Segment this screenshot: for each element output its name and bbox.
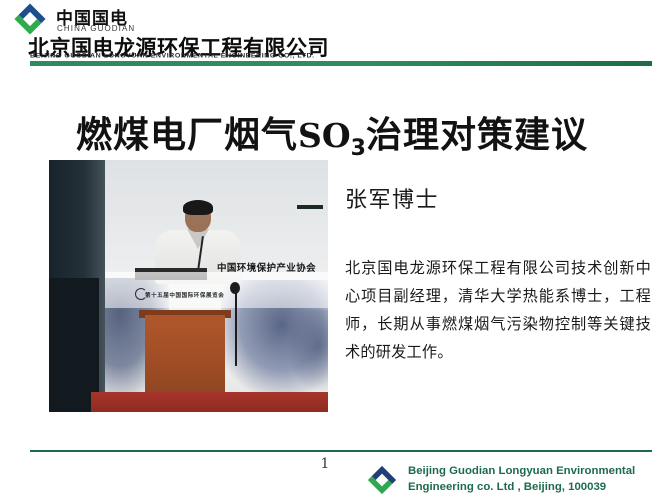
speaker-biography: 北京国电龙源环保工程有限公司技术创新中心项目副经理，清华大学热能系博士，工程师，… (345, 254, 651, 366)
photo-backdrop-text: 中国环境保护产业协会 (217, 260, 316, 274)
title-part1: 燃煤电厂烟气 (76, 115, 298, 156)
speaker-photo: 中国环境保护产业协会 第十五届中国国际环保展览会 (49, 160, 328, 412)
header-divider (30, 61, 652, 66)
speaker-name: 张军博士 (345, 182, 439, 214)
title-formula-so: SO (298, 116, 351, 155)
footer-divider (30, 450, 652, 452)
footer-line-2: Engineering co. Ltd , Beijing, 100039 (408, 480, 635, 496)
slide-header: 中国国电 CHINA GUODIAN 北京国电龙源环保工程有限公司 BEIJIN… (0, 0, 664, 68)
company-name-en: BEIJING GUODIAN LONGYUAN ENVIRONMENTAL E… (30, 53, 315, 59)
photo-red-carpet (91, 392, 328, 412)
title-part2: 治理对策建议 (366, 115, 588, 156)
guodian-diamond-logo-icon (363, 463, 401, 497)
photo-dark-dash (297, 205, 323, 209)
photo-podium (145, 315, 225, 401)
presentation-slide: 中国国电 CHINA GUODIAN 北京国电龙源环保工程有限公司 BEIJIN… (0, 0, 664, 502)
photo-speaker-hair (183, 200, 213, 215)
slide-title: 燃煤电厂烟气SO3治理对策建议 (0, 106, 664, 161)
footer-company-text: Beijing Guodian Longyuan Environmental E… (408, 464, 635, 495)
page-number: 1 (310, 456, 340, 472)
photo-microphone-stand (235, 288, 237, 366)
guodian-square-spiral-logo-icon (8, 3, 52, 35)
footer-line-1: Beijing Guodian Longyuan Environmental (408, 464, 635, 480)
title-formula-subscript: 3 (351, 136, 366, 161)
photo-expo-text: 第十五届中国国际环保展览会 (145, 291, 224, 299)
photo-ink-painting-right (289, 310, 328, 390)
